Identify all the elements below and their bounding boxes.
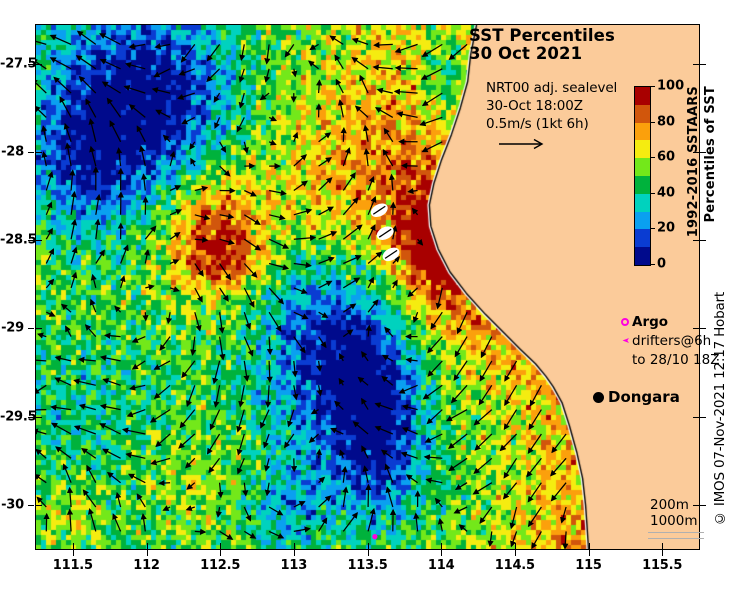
velocity-vector [238, 458, 244, 473]
velocity-vector [71, 273, 76, 288]
velocity-vector [309, 61, 319, 69]
velocity-vector [70, 488, 72, 507]
velocity-vector [182, 361, 195, 377]
velocity-vector [164, 507, 171, 510]
velocity-vector [376, 404, 393, 410]
velocity-vector [505, 385, 517, 405]
velocity-vector [294, 385, 297, 399]
velocity-vector [504, 410, 516, 430]
velocity-vector [409, 191, 418, 192]
velocity-vector [343, 513, 357, 531]
velocity-vector [87, 466, 96, 483]
velocity-vector [529, 410, 541, 430]
colorbar-tick [650, 264, 655, 265]
velocity-vector [505, 361, 517, 381]
velocity-vector [456, 483, 467, 490]
velocity-vector [86, 325, 96, 337]
velocity-vector [115, 307, 121, 313]
velocity-vector [289, 410, 294, 427]
velocity-vector [294, 529, 310, 532]
velocity-vector [238, 434, 244, 454]
velocity-vector [137, 126, 145, 141]
velocity-vector [93, 275, 96, 288]
velocity-vector [403, 428, 418, 434]
velocity-vector [340, 100, 343, 117]
velocity-vector [360, 76, 368, 93]
velocity-vector [244, 507, 250, 521]
y-tick-label: -29 [0, 321, 24, 336]
y-tick-label: -27.5 [0, 56, 24, 71]
velocity-vector [190, 142, 195, 149]
velocity-vector [368, 278, 373, 288]
velocity-vector [368, 252, 381, 263]
velocity-vector [343, 330, 352, 337]
drifter-marker-icon [618, 335, 632, 346]
velocity-vector [55, 378, 71, 385]
colorbar-tick-label: 60 [657, 150, 675, 165]
velocity-vector [60, 97, 71, 117]
velocity-vector [36, 385, 46, 393]
velocity-vector [36, 475, 46, 483]
velocity-vector [269, 312, 281, 331]
velocity-vector [481, 337, 491, 358]
velocity-vector [423, 142, 443, 152]
velocity-vector [155, 385, 170, 398]
x-tick [515, 543, 516, 549]
velocity-vector [319, 178, 332, 191]
velocity-vector [71, 192, 74, 215]
velocity-vector [144, 175, 146, 191]
y-tick-right-outer [700, 240, 706, 241]
velocity-vector [393, 281, 397, 288]
velocity-vector [343, 148, 349, 166]
velocity-vector [46, 280, 53, 288]
velocity-vector [121, 277, 124, 288]
velocity-vector [64, 465, 71, 483]
velocity-vector [268, 385, 269, 406]
x-tick [73, 543, 74, 549]
velocity-vector [336, 80, 343, 93]
velocity-vector [402, 166, 417, 167]
velocity-vector [101, 60, 121, 69]
velocity-vector [152, 458, 171, 463]
x-tick [294, 543, 295, 549]
velocity-vector [156, 110, 170, 117]
velocity-vector [71, 248, 76, 264]
map-legend: Argo drifters@6h to 28/10 18Z [618, 312, 719, 369]
y-tick-label: -28 [0, 145, 24, 160]
velocity-vector [269, 215, 284, 219]
velocity-vector [244, 361, 247, 381]
velocity-vector [294, 210, 311, 215]
y-tick-right-outer [700, 417, 706, 418]
velocity-vector [475, 410, 492, 425]
velocity-vector [110, 121, 120, 142]
velocity-vector [343, 467, 345, 483]
velocity-vector [70, 510, 71, 532]
velocity-vector [436, 499, 443, 507]
colorbar-label-dataset: 1992-2016 SSTAARS [686, 86, 701, 237]
velocity-vector [96, 251, 104, 264]
velocity-vector [343, 256, 360, 264]
legend-label-drifters: drifters@6h [632, 333, 711, 349]
velocity-vector [266, 458, 269, 470]
velocity-vector [480, 507, 492, 523]
velocity-vector [319, 133, 331, 142]
velocity-vector [193, 337, 195, 355]
city-marker-dongara: Dongara [593, 388, 680, 406]
velocity-vector [269, 264, 288, 269]
velocity-vector [382, 450, 393, 458]
velocity-vector [343, 128, 344, 142]
velocity-vector [220, 264, 231, 280]
x-tick-label: 115.5 [642, 558, 682, 573]
x-tick [441, 543, 442, 549]
velocity-vector [187, 483, 195, 489]
velocity-vector [356, 106, 368, 117]
colorbar-band [635, 194, 650, 212]
velocity-vector [403, 406, 418, 410]
bathymetry-label-1000m: 1000m [650, 514, 698, 530]
velocity-vector [178, 93, 195, 98]
velocity-vector [180, 410, 195, 428]
velocity-vector [62, 305, 71, 313]
velocity-vector [294, 502, 305, 507]
velocity-vector [84, 490, 96, 507]
velocity-vector [119, 148, 121, 166]
x-tick-label: 115 [575, 558, 602, 573]
x-tick-label: 113 [281, 558, 308, 573]
velocity-vector [154, 69, 170, 77]
velocity-vector [310, 44, 318, 49]
velocity-vector [220, 239, 234, 243]
velocity-vector [340, 451, 343, 459]
velocity-vector [365, 126, 368, 142]
x-tick-outer [294, 550, 295, 556]
velocity-vector [366, 149, 368, 166]
velocity-vector [121, 246, 128, 264]
velocity-vector [362, 446, 368, 458]
velocity-vector [75, 426, 96, 434]
velocity-vector [267, 44, 269, 63]
y-tick-outer [28, 505, 34, 506]
velocity-vector [319, 361, 320, 371]
velocity-vector [452, 385, 467, 402]
velocity-vector [145, 227, 155, 240]
y-tick-label: -28.5 [0, 233, 24, 248]
velocity-vector [426, 434, 443, 442]
velocity-vector [186, 458, 195, 467]
info-line-product: NRT00 adj. sealevel [486, 80, 617, 98]
velocity-vector [261, 410, 269, 428]
velocity-vector [392, 175, 393, 191]
velocity-vector [269, 337, 270, 354]
velocity-vector [207, 44, 219, 60]
bathymetry-line-sample-2 [648, 538, 704, 539]
y-tick-right-outer [700, 505, 706, 506]
y-tick-right [693, 64, 699, 65]
velocity-vector [552, 434, 566, 452]
velocity-vector [56, 447, 71, 458]
velocity-vector [269, 239, 288, 248]
colorbar-tick [650, 193, 655, 194]
velocity-vector [319, 496, 331, 507]
velocity-vector [269, 531, 283, 538]
velocity-vector [407, 475, 418, 483]
velocity-vector [127, 454, 146, 458]
velocity-vector [52, 423, 71, 434]
y-tick-right [693, 417, 699, 418]
velocity-vector [378, 90, 393, 94]
colorbar-band [635, 176, 650, 194]
velocity-vector [527, 458, 541, 476]
velocity-vector [428, 361, 442, 376]
legend-label-argo: Argo [632, 314, 668, 330]
velocity-vector [141, 147, 145, 167]
velocity-vector [428, 337, 442, 353]
y-tick [36, 417, 42, 418]
velocity-vector [319, 385, 321, 395]
velocity-vector [374, 44, 392, 45]
velocity-vector [156, 44, 171, 47]
velocity-vector [294, 155, 306, 166]
velocity-vector [66, 327, 71, 337]
velocity-vector [244, 312, 249, 328]
velocity-vector [130, 385, 145, 388]
velocity-vector [319, 518, 327, 531]
velocity-vector [46, 229, 52, 239]
velocity-vector [90, 509, 96, 531]
x-tick-outer [662, 550, 663, 556]
velocity-vector [220, 312, 223, 332]
y-tick [36, 64, 42, 65]
velocity-vector [408, 288, 417, 297]
velocity-vector [153, 89, 170, 93]
velocity-vector [385, 328, 393, 337]
velocity-vector [100, 424, 120, 434]
velocity-vector [36, 450, 46, 459]
velocity-vector [46, 312, 54, 316]
velocity-vector [191, 159, 195, 166]
velocity-vector [244, 239, 260, 250]
info-line-velocity-scale: 0.5m/s (1kt 6h) [486, 116, 617, 134]
velocity-vector [117, 493, 121, 507]
velocity-vector [244, 288, 254, 307]
velocity-vector [240, 93, 244, 107]
argo-float-marker [372, 534, 377, 539]
velocity-vector [241, 44, 244, 60]
velocity-vector [374, 67, 393, 69]
velocity-vector [425, 457, 442, 458]
velocity-vector [195, 312, 200, 330]
velocity-vector [36, 79, 46, 93]
velocity-vector [108, 473, 121, 483]
colorbar: 100806040200 1992-2016 SSTAARS Percentil… [634, 86, 651, 266]
velocity-vector [44, 152, 47, 166]
velocity-vector [238, 410, 245, 432]
velocity-vector [413, 209, 418, 215]
velocity-vector [187, 385, 195, 406]
x-tick-outer [368, 550, 369, 556]
velocity-vector [532, 531, 541, 548]
velocity-vector [170, 186, 180, 191]
velocity-vector [36, 360, 46, 361]
colorbar-band [635, 229, 650, 247]
velocity-vector [38, 334, 46, 337]
y-tick [36, 328, 42, 329]
velocity-vector [103, 449, 120, 458]
velocity-vector [244, 483, 246, 496]
velocity-vector [310, 434, 319, 442]
colorbar-tick [650, 157, 655, 158]
velocity-vector [77, 56, 96, 69]
velocity-vector [71, 220, 75, 239]
velocity-vector [362, 352, 368, 361]
velocity-vector [562, 507, 566, 522]
velocity-vector [182, 44, 195, 61]
velocity-vector [266, 69, 269, 82]
velocity-vector [123, 430, 145, 435]
colorbar-label-variable: Percentiles of SST [703, 86, 718, 222]
velocity-vector [501, 434, 517, 450]
colorbar-tick-label: 0 [657, 257, 666, 272]
velocity-vector [294, 361, 296, 376]
velocity-vector [214, 361, 220, 383]
colorbar-band [635, 87, 650, 105]
velocity-vector [71, 171, 73, 191]
velocity-vector [460, 525, 468, 532]
model-info: NRT00 adj. sealevel 30-Oct 18:00Z 0.5m/s… [486, 80, 617, 133]
velocity-vector [170, 260, 178, 263]
velocity-vector [90, 119, 95, 141]
x-tick [368, 543, 369, 549]
velocity-vector [294, 69, 296, 76]
velocity-vector [565, 531, 566, 548]
x-tick [589, 543, 590, 549]
velocity-vector [319, 158, 331, 166]
velocity-vector [396, 44, 418, 51]
velocity-vector [400, 385, 418, 393]
velocity-vector [101, 357, 120, 361]
velocity-vector [237, 117, 244, 131]
velocity-vector [294, 238, 315, 240]
velocity-vector [244, 142, 247, 153]
velocity-vector [51, 36, 71, 45]
velocity-vector [376, 427, 393, 434]
velocity-vector [151, 410, 170, 422]
velocity-vector [220, 142, 226, 152]
velocity-vector [46, 203, 51, 215]
velocity-vector [244, 531, 255, 538]
argo-marker-icon [618, 318, 632, 326]
velocity-vector [101, 406, 121, 410]
velocity-vector [479, 385, 492, 404]
velocity-vector [182, 117, 195, 123]
velocity-vector [100, 34, 120, 45]
velocity-vector [474, 458, 492, 473]
velocity-vector [319, 478, 325, 483]
velocity-vector [354, 422, 369, 434]
velocity-vector [125, 87, 146, 94]
velocity-vector [218, 507, 220, 517]
velocity-vector [504, 458, 516, 477]
velocity-vector [368, 225, 375, 239]
velocity-vector [91, 300, 96, 312]
velocity-vector [244, 337, 252, 356]
velocity-vector [74, 380, 95, 385]
velocity-vector [368, 509, 374, 531]
colorbar-tick-label: 20 [657, 221, 675, 236]
velocity-vector [96, 220, 98, 239]
velocity-vector [423, 44, 443, 56]
velocity-vector [244, 191, 256, 196]
velocity-vector [438, 288, 443, 308]
velocity-vector [133, 361, 146, 369]
velocity-vector [105, 335, 120, 336]
velocity-vector [414, 312, 418, 322]
velocity-vector [376, 108, 393, 118]
velocity-vector [187, 507, 195, 510]
title-line-2: 30 Oct 2021 [469, 45, 615, 63]
velocity-vector [423, 93, 442, 105]
velocity-vector [458, 312, 468, 333]
velocity-vector [319, 81, 320, 94]
velocity-vector [240, 385, 244, 406]
velocity-vector [86, 99, 96, 117]
velocity-vector [137, 494, 145, 507]
velocity-vector [267, 483, 269, 495]
colorbar-tick [650, 86, 655, 87]
colorbar-band [635, 158, 650, 176]
colorbar-band [635, 140, 650, 158]
velocity-vector [319, 258, 334, 264]
velocity-vector [104, 379, 121, 385]
velocity-vector [343, 278, 359, 288]
velocity-vector [170, 152, 174, 166]
velocity-vector [398, 113, 418, 117]
velocity-vector [130, 105, 146, 118]
legend-label-period: to 28/10 18Z [632, 352, 719, 368]
velocity-vector [195, 239, 207, 240]
velocity-vector [475, 434, 492, 450]
velocity-vector [195, 215, 209, 219]
velocity-vector [128, 410, 146, 416]
velocity-vector [335, 55, 343, 68]
y-tick [36, 152, 42, 153]
velocity-vector [156, 434, 170, 446]
velocity-vector [209, 458, 220, 472]
velocity-vector [343, 198, 358, 215]
velocity-vector [421, 117, 443, 124]
velocity-scale-arrow-icon [497, 136, 553, 152]
velocity-vector [36, 106, 46, 117]
velocity-vector [46, 249, 53, 263]
velocity-vector [195, 188, 207, 191]
velocity-vector [195, 264, 203, 276]
velocity-vector [424, 385, 443, 398]
x-tick-label: 111.5 [53, 558, 93, 573]
velocity-vector [552, 483, 567, 501]
velocity-vector [160, 483, 171, 484]
x-tick-outer [441, 550, 442, 556]
velocity-vector [368, 177, 373, 190]
velocity-vector [220, 337, 224, 360]
velocity-vector [431, 312, 442, 328]
colorbar-tick-label: 40 [657, 185, 675, 200]
velocity-vector [454, 361, 467, 380]
velocity-vector [285, 434, 294, 447]
velocity-vector [340, 354, 344, 361]
